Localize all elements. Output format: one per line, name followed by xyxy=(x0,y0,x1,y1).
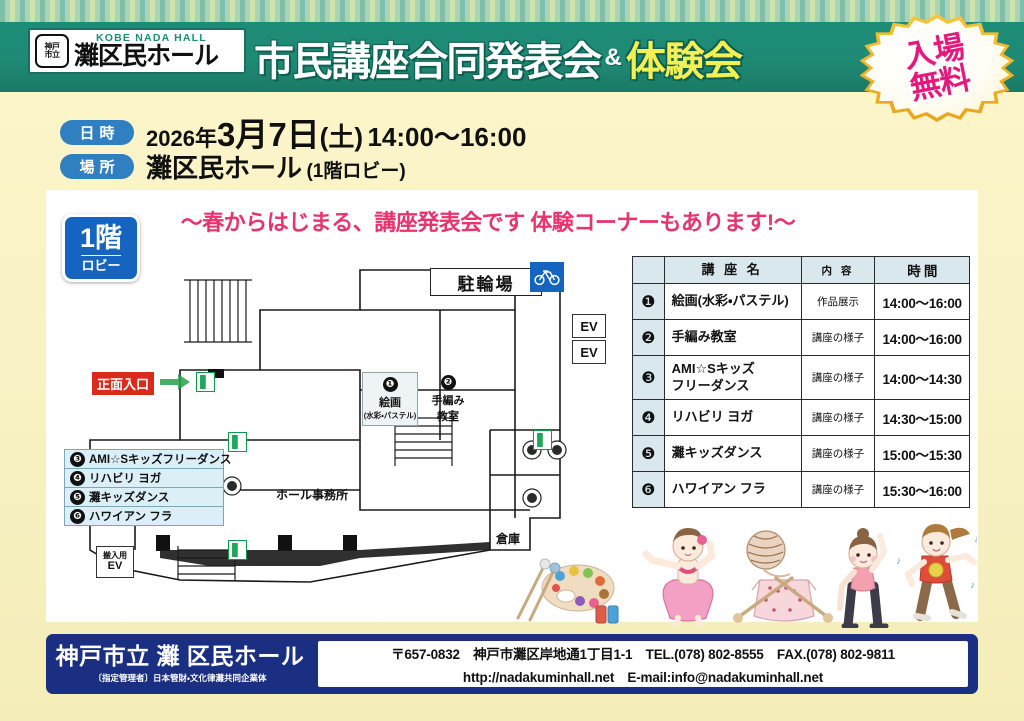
room-tag-painting-title: 絵画 xyxy=(379,394,401,410)
floor-plan-drawing xyxy=(60,250,620,590)
poster-root: 神戸 市立 KOBE NADA HALL 灘区民ホール 市民講座合同発表会 & … xyxy=(0,0,1024,721)
svg-text:♪: ♪ xyxy=(970,580,975,591)
row-course-name: 絵画(水彩・パステル) xyxy=(664,284,801,320)
footer-contact: 〒657-0832 神戸市灘区岸地通1丁目1-1 TEL.(078) 802-8… xyxy=(318,641,968,687)
row-course-name: 灘キッズダンス xyxy=(664,436,801,472)
course-schedule-table: 講 座 名 内 容 時 間 ❶ 絵画(水彩・パステル) 作品展示 14:00〜1… xyxy=(632,256,970,508)
row-content: 講座の様子 xyxy=(801,436,875,472)
city-mark-line2: 市立 xyxy=(45,51,60,59)
tagline-text: 〜春からはじまる、講座発表会です 体験コーナーもあります!〜 xyxy=(168,205,808,237)
place-label-pill: 場所 xyxy=(60,154,134,179)
table-header-no xyxy=(633,257,665,284)
table-row: ❸ AMI☆Sキッズ フリーダンス 講座の様子 14:00〜14:30 xyxy=(633,356,970,400)
legend-number-badge: ❸ xyxy=(70,452,85,467)
storage-label: 倉庫 xyxy=(496,530,520,547)
event-title-highlight: 体験会 xyxy=(626,29,742,87)
row-time: 14:30〜15:00 xyxy=(875,400,970,436)
table-header-row: 講 座 名 内 容 時 間 xyxy=(633,257,970,284)
table-header-time: 時 間 xyxy=(875,257,970,284)
free-admission-line2: 無料 xyxy=(908,62,973,104)
row-content: 講座の様子 xyxy=(801,320,875,356)
row-time: 14:00〜16:00 xyxy=(875,284,970,320)
emergency-exit-icon xyxy=(533,430,552,450)
row-time: 15:30〜16:00 xyxy=(875,472,970,508)
elevator-lower-label: EV xyxy=(572,340,606,364)
room-tag-painting: ❶ 絵画 (水彩・パステル) xyxy=(362,372,418,426)
table-header-course: 講 座 名 xyxy=(664,257,801,284)
footer-org-sub: 〔指定管理者〕日本管財・文化律灘共同企業体 xyxy=(94,672,267,684)
paint-palette-illustration xyxy=(500,556,620,629)
dancing-kid-illustration: ♪♪♩ xyxy=(890,518,982,631)
row-content: 講座の様子 xyxy=(801,472,875,508)
bicycle-icon xyxy=(530,262,564,292)
emergency-exit-icon xyxy=(228,432,247,452)
place-name: 灘区民ホール xyxy=(146,153,302,183)
row-time: 15:00〜15:30 xyxy=(875,436,970,472)
loading-elevator-line1: 搬入用 xyxy=(103,552,127,561)
legend-item-label: リハビリ ヨガ xyxy=(89,470,161,486)
legend-item-label: AMI☆Sキッズフリーダンス xyxy=(89,451,231,467)
footer-org-name: 神戸市立 灘 区民ホール xyxy=(56,644,305,669)
hula-dancer-illustration xyxy=(640,522,736,631)
logo-japanese-name: 灘区民ホール xyxy=(74,44,218,69)
elevator-upper-label: EV xyxy=(572,314,606,338)
legend-number-badge: ❻ xyxy=(70,509,85,524)
row-content: 講座の様子 xyxy=(801,400,875,436)
legend-item: ❺ 灘キッズダンス xyxy=(64,487,224,507)
legend-item: ❻ ハワイアン フラ xyxy=(64,506,224,526)
row-number: ❷ xyxy=(633,320,665,356)
hall-logo: 神戸 市立 KOBE NADA HALL 灘区民ホール xyxy=(28,28,246,74)
emergency-exit-icon xyxy=(228,540,247,560)
svg-text:♪: ♪ xyxy=(896,556,901,567)
row-course-name: ハワイアン フラ xyxy=(664,472,801,508)
table-header-content: 内 容 xyxy=(801,257,875,284)
room-tag-knitting-line1: 手編み xyxy=(432,392,465,408)
hall-office-label: ホール事務所 xyxy=(276,486,348,503)
footer-contact-address: 〒657-0832 神戸市灘区岸地通1丁目1-1 TEL.(078) 802-8… xyxy=(391,643,895,663)
city-mark-icon: 神戸 市立 xyxy=(35,34,69,68)
date-label-pill: 日時 xyxy=(60,120,134,145)
svg-text:♩: ♩ xyxy=(974,534,982,545)
place-sub: (1階ロビー) xyxy=(306,161,405,182)
table-row: ❺ 灘キッズダンス 講座の様子 15:00〜15:30 xyxy=(633,436,970,472)
event-title: 市民講座合同発表会 & 体験会 xyxy=(254,30,741,86)
row-course-name-line1: AMI☆Sキッズ xyxy=(672,361,800,377)
room-tag-knitting: ❷ 手編み 教室 xyxy=(422,372,474,426)
table-row: ❶ 絵画(水彩・パステル) 作品展示 14:00〜16:00 xyxy=(633,284,970,320)
row-time: 14:00〜14:30 xyxy=(875,356,970,400)
row-course-name-line2: フリーダンス xyxy=(672,378,800,394)
entrance-arrow-icon xyxy=(160,374,190,390)
row-number: ❻ xyxy=(633,472,665,508)
table-row: ❻ ハワイアン フラ 講座の様子 15:30〜16:00 xyxy=(633,472,970,508)
row-content: 作品展示 xyxy=(801,284,875,320)
front-entrance-label: 正面入口 xyxy=(92,372,154,395)
event-title-ampersand: & xyxy=(605,44,622,72)
row-time: 14:00〜16:00 xyxy=(875,320,970,356)
legend-number-badge: ❺ xyxy=(70,490,85,505)
floor-plan-svg xyxy=(60,250,620,590)
legend-number-badge: ❹ xyxy=(70,471,85,486)
table-row: ❹ リハビリ ヨガ 講座の様子 14:30〜15:00 xyxy=(633,400,970,436)
row-content: 講座の様子 xyxy=(801,356,875,400)
legend-item-label: ハワイアン フラ xyxy=(89,508,172,524)
emergency-exit-icon xyxy=(196,372,215,392)
event-title-main: 市民講座合同発表会 xyxy=(254,29,601,87)
footer-contact-web: http://nadakuminhall.net E-mail:info@nad… xyxy=(463,666,823,686)
place-value: 灘区民ホール (1階ロビー) xyxy=(146,148,406,185)
legend-item: ❹ リハビリ ヨガ xyxy=(64,468,224,488)
room-number-badge: ❷ xyxy=(441,375,456,390)
row-number: ❺ xyxy=(633,436,665,472)
legend-item: ❸ AMI☆Sキッズフリーダンス xyxy=(64,449,224,469)
room-tag-knitting-line2: 教室 xyxy=(437,408,459,424)
room-tag-painting-sub: (水彩・パステル) xyxy=(364,410,417,421)
footer-organization: 神戸市立 灘 区民ホール 〔指定管理者〕日本管財・文化律灘共同企業体 xyxy=(46,644,314,684)
free-admission-badge: 入場 無料 xyxy=(858,14,1016,122)
row-number: ❶ xyxy=(633,284,665,320)
row-course-name: リハビリ ヨガ xyxy=(664,400,801,436)
row-course-name: 手編み教室 xyxy=(664,320,801,356)
bicycle-parking-label: 駐輪場 xyxy=(430,268,542,296)
row-number: ❹ xyxy=(633,400,665,436)
loading-elevator-label: 搬入用 EV xyxy=(96,546,134,578)
footer-bar: 神戸市立 灘 区民ホール 〔指定管理者〕日本管財・文化律灘共同企業体 〒657-… xyxy=(46,634,978,694)
row-number: ❸ xyxy=(633,356,665,400)
place-row: 場所 灘区民ホール (1階ロビー) xyxy=(60,148,406,185)
table-row: ❷ 手編み教室 講座の様子 14:00〜16:00 xyxy=(633,320,970,356)
loading-elevator-line2: EV xyxy=(108,560,123,572)
map-legend: ❸ AMI☆Sキッズフリーダンス ❹ リハビリ ヨガ ❺ 灘キッズダンス ❻ ハ… xyxy=(64,450,224,526)
legend-item-label: 灘キッズダンス xyxy=(89,489,169,505)
room-number-badge: ❶ xyxy=(383,377,398,392)
row-course-name: AMI☆Sキッズ フリーダンス xyxy=(664,356,801,400)
floor-badge-floor: 1階 xyxy=(80,225,122,252)
